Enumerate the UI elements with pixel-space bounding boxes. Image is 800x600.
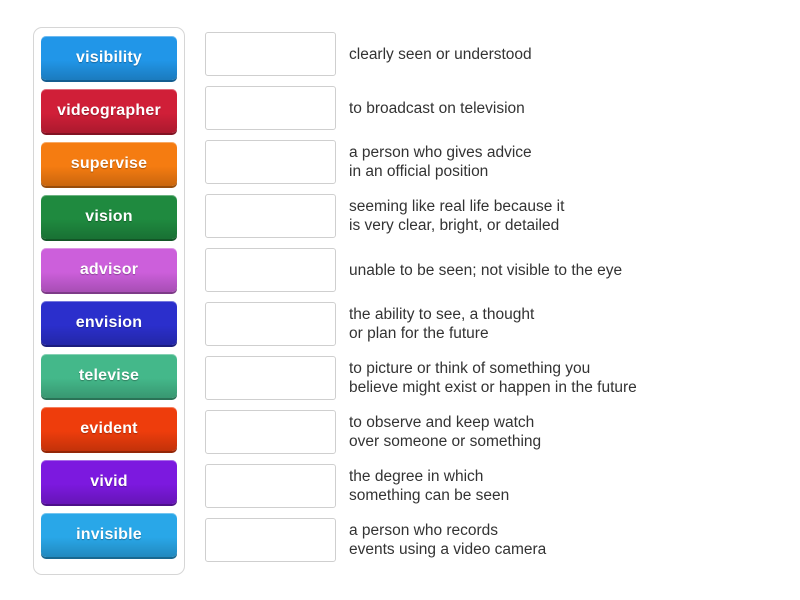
answer-dropzone[interactable]	[205, 86, 336, 130]
word-tile-supervise[interactable]: supervise	[41, 142, 177, 186]
answer-dropzone[interactable]	[205, 302, 336, 346]
definition-row: a person who gives advice in an official…	[205, 135, 785, 189]
definition-row: unable to be seen; not visible to the ey…	[205, 243, 785, 297]
answer-dropzone[interactable]	[205, 32, 336, 76]
answer-dropzone[interactable]	[205, 194, 336, 238]
definition-text: to broadcast on television	[349, 99, 785, 118]
definition-text: to picture or think of something you bel…	[349, 359, 785, 397]
word-tile-vivid[interactable]: vivid	[41, 460, 177, 504]
answer-dropzone[interactable]	[205, 356, 336, 400]
definition-text: unable to be seen; not visible to the ey…	[349, 261, 785, 280]
word-tile-label: visibility	[76, 49, 142, 67]
match-up-activity: visibility videographer supervise vision…	[0, 0, 800, 600]
definition-row: seeming like real life because it is ver…	[205, 189, 785, 243]
word-tile-label: envision	[76, 314, 143, 332]
definition-row: clearly seen or understood	[205, 27, 785, 81]
word-tile-label: advisor	[80, 261, 138, 279]
definition-text: a person who gives advice in an official…	[349, 143, 785, 181]
answer-dropzone[interactable]	[205, 410, 336, 454]
definition-row-list: clearly seen or understood to broadcast …	[205, 27, 785, 567]
answer-dropzone[interactable]	[205, 140, 336, 184]
word-tile-label: evident	[80, 420, 137, 438]
word-tile-label: invisible	[76, 526, 142, 544]
definition-text: seeming like real life because it is ver…	[349, 197, 785, 235]
word-tile-bank: visibility videographer supervise vision…	[33, 27, 185, 575]
word-tile-vision[interactable]: vision	[41, 195, 177, 239]
definition-text: the ability to see, a thought or plan fo…	[349, 305, 785, 343]
definition-row: the ability to see, a thought or plan fo…	[205, 297, 785, 351]
word-tile-videographer[interactable]: videographer	[41, 89, 177, 133]
definition-text: clearly seen or understood	[349, 45, 785, 64]
answer-dropzone[interactable]	[205, 248, 336, 292]
word-tile-label: supervise	[71, 155, 148, 173]
word-tile-envision[interactable]: envision	[41, 301, 177, 345]
definition-text: the degree in which something can be see…	[349, 467, 785, 505]
word-tile-televise[interactable]: televise	[41, 354, 177, 398]
definition-row: to broadcast on television	[205, 81, 785, 135]
definition-text: to observe and keep watch over someone o…	[349, 413, 785, 451]
word-tile-advisor[interactable]: advisor	[41, 248, 177, 292]
word-tile-label: vision	[85, 208, 132, 226]
definition-row: a person who records events using a vide…	[205, 513, 785, 567]
answer-dropzone[interactable]	[205, 518, 336, 562]
definition-text: a person who records events using a vide…	[349, 521, 785, 559]
word-tile-label: televise	[79, 367, 139, 385]
definition-row: to picture or think of something you bel…	[205, 351, 785, 405]
word-tile-evident[interactable]: evident	[41, 407, 177, 451]
word-tile-invisible[interactable]: invisible	[41, 513, 177, 557]
definition-row: to observe and keep watch over someone o…	[205, 405, 785, 459]
answer-dropzone[interactable]	[205, 464, 336, 508]
word-tile-label: videographer	[57, 102, 161, 120]
word-tile-label: vivid	[90, 473, 127, 491]
word-tile-visibility[interactable]: visibility	[41, 36, 177, 80]
definition-row: the degree in which something can be see…	[205, 459, 785, 513]
